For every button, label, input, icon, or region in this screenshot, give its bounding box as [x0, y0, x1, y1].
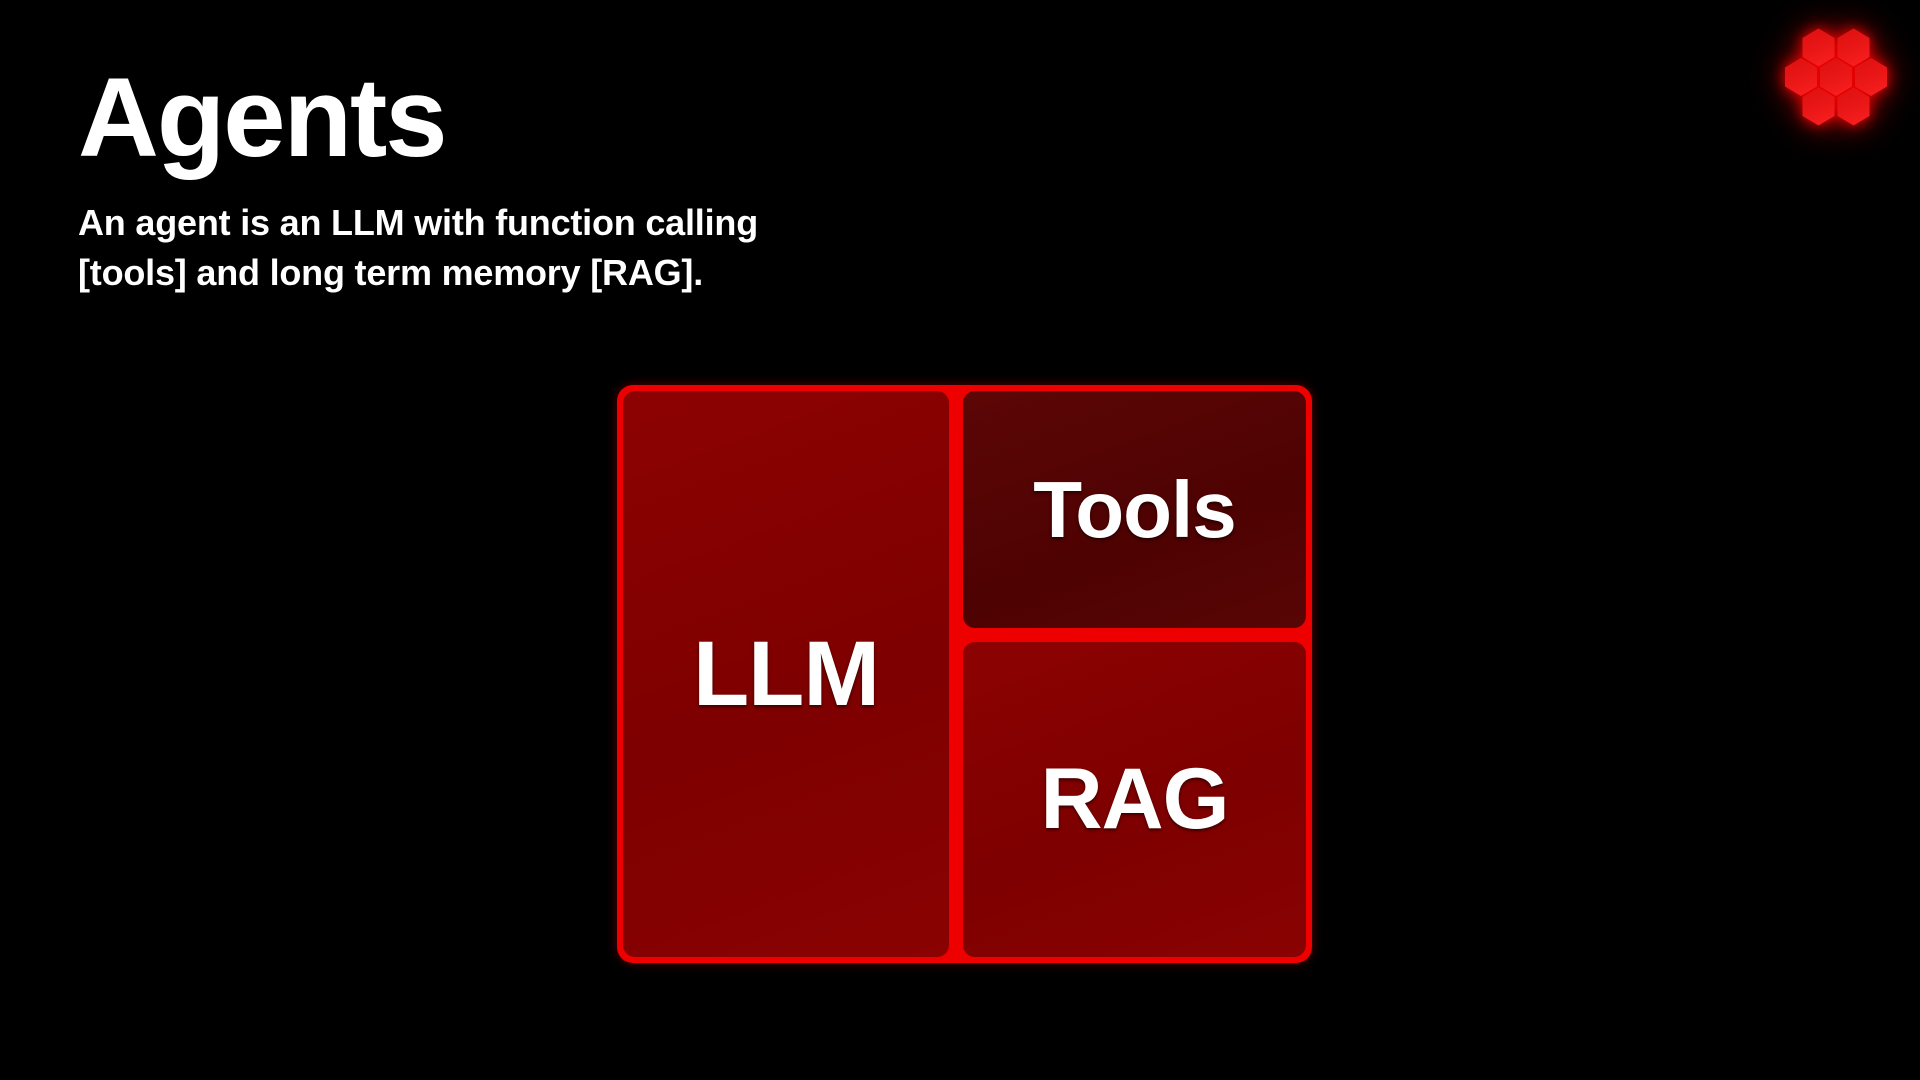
- hexagon-flower-logo: [1780, 22, 1892, 134]
- panel-rag-label: RAG: [1040, 750, 1228, 849]
- diagram-right-column: Tools RAG: [963, 391, 1306, 957]
- agent-architecture-diagram: LLM Tools RAG: [617, 385, 1312, 963]
- subtitle: An agent is an LLM with function calling…: [78, 198, 1178, 297]
- subtitle-line-1: An agent is an LLM with function calling: [78, 198, 1178, 248]
- slide-canvas: Agents An agent is an LLM with function …: [0, 0, 1920, 1080]
- page-title: Agents: [78, 62, 1178, 174]
- panel-llm-label: LLM: [693, 622, 879, 727]
- panel-tools-label: Tools: [1033, 464, 1235, 556]
- title-block: Agents An agent is an LLM with function …: [78, 62, 1178, 297]
- panel-rag[interactable]: RAG: [963, 642, 1306, 957]
- panel-tools[interactable]: Tools: [963, 391, 1306, 628]
- panel-llm[interactable]: LLM: [623, 391, 949, 957]
- subtitle-line-2: [tools] and long term memory [RAG].: [78, 248, 1178, 298]
